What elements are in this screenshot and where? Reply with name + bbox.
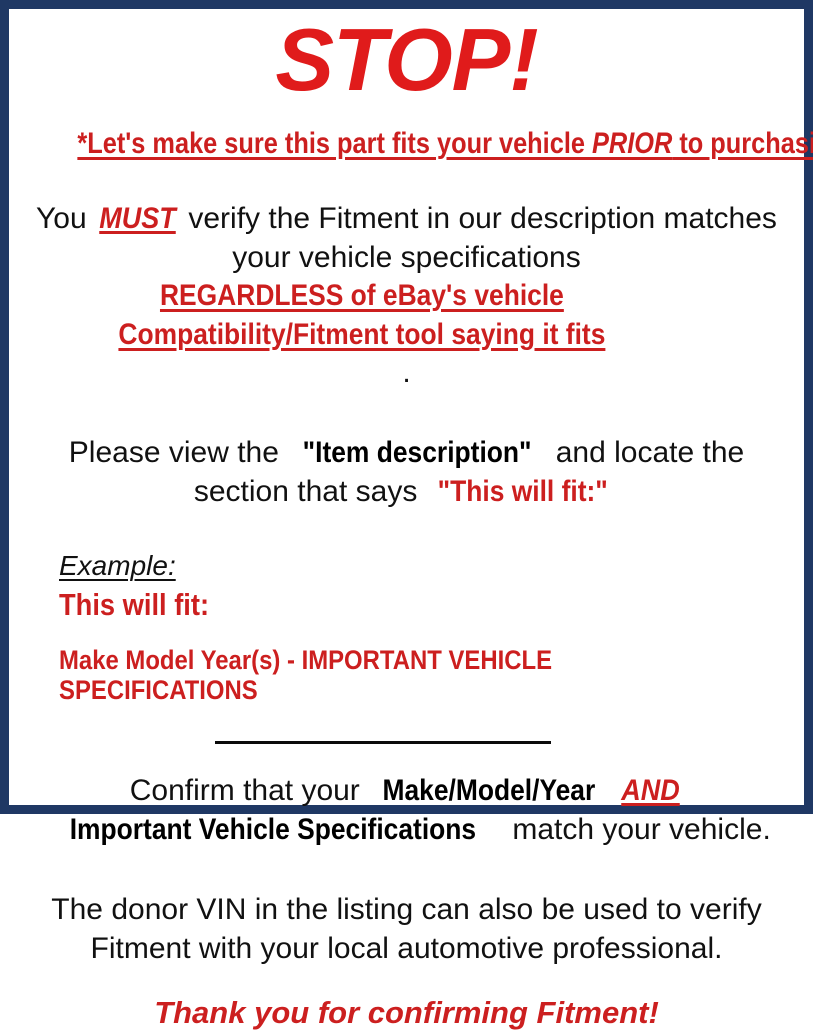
paragraph-item-description: Please view the "Item description" and l… <box>17 434 796 511</box>
emphasis-must: MUST <box>99 200 176 238</box>
confirm-seg2: match your vehicle. <box>504 813 771 846</box>
emphasis-and: AND <box>622 772 681 810</box>
example-label: Example: <box>59 551 176 582</box>
fitment-notice-card: STOP! *Let's make sure this part fits yo… <box>0 0 813 814</box>
itemdesc-seg1: Please view the <box>69 436 287 469</box>
example-fit-line: This will fit: <box>59 588 796 622</box>
paragraph-confirm: Confirm that your Make/Model/Year AND Im… <box>17 772 796 849</box>
example-fit-line-text: This will fit: <box>59 588 209 622</box>
divider <box>17 731 796 734</box>
paragraph-donor-vin: The donor VIN in the listing can also be… <box>17 891 796 968</box>
subtitle-text-part1: *Let's make sure this part fits your veh… <box>77 127 592 160</box>
emphasis-this-will-fit-quote: "This will fit:" <box>437 473 607 511</box>
subtitle-banner: *Let's make sure this part fits your veh… <box>77 127 735 161</box>
must-seg2: verify the Fitment in our description ma… <box>180 202 777 273</box>
example-spec-line-text: Make Model Year(s) - IMPORTANT VEHICLE S… <box>59 646 711 705</box>
emphasis-item-description: "Item description" <box>303 434 532 472</box>
confirm-space1 <box>610 774 618 807</box>
thank-you-line: Thank you for confirming Fitment! <box>17 994 796 1031</box>
must-seg1: You <box>36 202 95 235</box>
emphasis-make-model-year: Make/Model/Year <box>383 772 596 810</box>
example-spec-line: Make Model Year(s) - IMPORTANT VEHICLE S… <box>59 646 796 705</box>
must-seg3: . <box>402 356 410 389</box>
example-block: Example: This will fit: Make Model Year(… <box>17 551 796 705</box>
subtitle-emphasis-prior: PRIOR <box>592 127 672 160</box>
example-label-row: Example: <box>59 551 796 582</box>
emphasis-regardless-clause: REGARDLESS of eBay's vehicle Compatibili… <box>35 277 689 354</box>
paragraph-must-verify: You MUST verify the Fitment in our descr… <box>17 200 796 392</box>
notice-content-area: STOP! *Let's make sure this part fits yo… <box>9 9 804 805</box>
page-title: STOP! <box>17 9 796 105</box>
confirm-seg1: Confirm that your <box>130 774 368 807</box>
emphasis-important-vehicle-specifications: Important Vehicle Specifications <box>70 811 476 849</box>
subtitle-text-part2: to purchasing* <box>672 127 813 160</box>
divider-rule <box>215 741 551 744</box>
